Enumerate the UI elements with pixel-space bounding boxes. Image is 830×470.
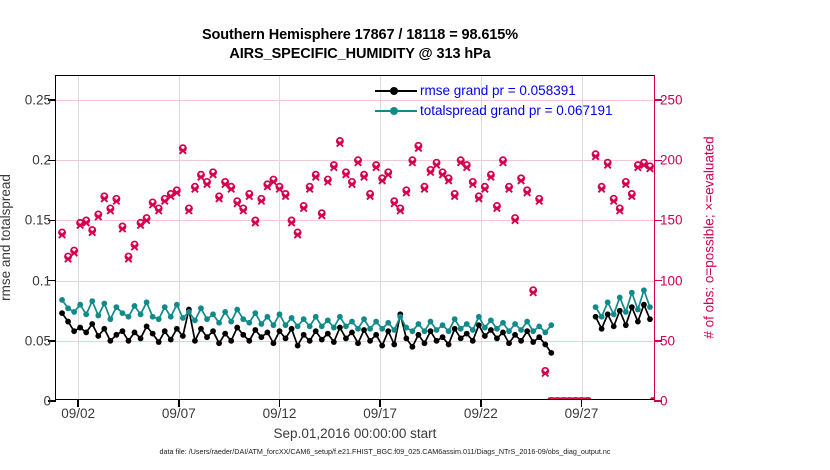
series-point — [373, 332, 379, 338]
series-point — [240, 316, 246, 322]
series-point — [168, 314, 174, 320]
series--of-obs-possible-o- — [59, 138, 654, 399]
series-point — [530, 339, 536, 345]
series-point — [271, 322, 277, 328]
series-point — [343, 323, 349, 329]
series-point — [518, 327, 524, 333]
series-point — [65, 305, 71, 311]
series-point — [95, 333, 101, 339]
series-point — [422, 328, 428, 334]
legend-label: totalspread grand pr = 0.067191 — [420, 103, 613, 118]
y-tick-label-left: 0.05 — [25, 333, 51, 348]
series-point — [446, 328, 452, 334]
series-point — [337, 325, 343, 331]
title-line-1: Southern Hemisphere 17867 / 18118 = 98.6… — [0, 26, 720, 45]
series-point — [216, 320, 222, 326]
series-point — [464, 321, 470, 327]
series-point — [168, 337, 174, 343]
series-point — [162, 328, 168, 334]
series-point — [548, 322, 554, 328]
series-point — [150, 331, 156, 337]
series-point — [150, 314, 156, 320]
series-point — [500, 320, 506, 326]
series-point — [65, 319, 71, 325]
series-point — [313, 328, 319, 334]
series-point — [120, 328, 126, 334]
series-point — [611, 311, 617, 317]
series-point — [349, 329, 355, 335]
series-point — [95, 313, 101, 319]
y-tick-label-left: 0 — [43, 394, 51, 409]
series-point — [107, 338, 113, 344]
series-point — [494, 326, 500, 332]
series-point — [355, 340, 361, 346]
series-point — [391, 342, 397, 348]
series-point — [440, 334, 446, 340]
series-point — [605, 311, 611, 317]
x-tick-label: 09/22 — [464, 406, 498, 421]
series-point — [222, 309, 228, 315]
series-point — [59, 310, 65, 316]
series-point — [629, 290, 635, 296]
series-point — [265, 314, 271, 320]
series-point — [295, 323, 301, 329]
x-axis-label: Sep.01,2016 00:00:00 start — [55, 426, 655, 441]
series-point — [343, 336, 349, 342]
series-point — [647, 304, 653, 310]
series-point — [331, 325, 337, 331]
series-point — [409, 344, 415, 350]
series-point — [409, 328, 415, 334]
series-point — [385, 328, 391, 334]
series-point — [180, 315, 186, 321]
series-point — [204, 316, 210, 322]
series-point — [331, 339, 337, 345]
series-point — [542, 329, 548, 335]
series-point — [325, 317, 331, 323]
series-point — [385, 320, 391, 326]
legend-totalspread[interactable]: totalspread grand pr = 0.067191 — [375, 102, 613, 119]
series-point — [289, 315, 295, 321]
series-point — [452, 316, 458, 322]
series-point — [476, 314, 482, 320]
series-point — [132, 303, 138, 309]
series-point — [416, 321, 422, 327]
series-point — [271, 340, 277, 346]
legend-label: rmse grand pr = 0.058391 — [420, 83, 576, 98]
series-point — [228, 319, 234, 325]
series-point — [536, 323, 542, 329]
series-point — [434, 327, 440, 333]
series-point — [629, 304, 635, 310]
series-point — [361, 327, 367, 333]
series-point — [120, 310, 126, 316]
y-tick-label-right: 200 — [660, 153, 683, 168]
series-point — [132, 329, 138, 335]
series-point — [488, 317, 494, 323]
series-point — [536, 334, 542, 340]
series-point — [446, 342, 452, 348]
series-point — [470, 327, 476, 333]
series-point — [301, 332, 307, 338]
series-point — [89, 321, 95, 327]
series-point — [458, 326, 464, 332]
series-point — [319, 323, 325, 329]
series-point — [506, 340, 512, 346]
series-point — [258, 321, 264, 327]
series-point — [114, 332, 120, 338]
series-point — [77, 302, 83, 308]
series-point — [77, 325, 83, 331]
series-point — [641, 302, 647, 308]
series-point — [246, 320, 252, 326]
series-point — [617, 295, 623, 301]
series-point — [307, 323, 313, 329]
series-point — [623, 309, 629, 315]
series-point — [204, 334, 210, 340]
series--of-obs-evaluated-x- — [59, 140, 654, 399]
legend-rmse[interactable]: rmse grand pr = 0.058391 — [375, 82, 613, 99]
series-point — [277, 311, 283, 317]
series-point — [452, 326, 458, 332]
series-point — [265, 329, 271, 335]
series-point — [500, 329, 506, 335]
y-tick-label-right: 100 — [660, 273, 683, 288]
series-point — [373, 319, 379, 325]
series-point — [458, 336, 464, 342]
series-point — [71, 309, 77, 315]
series-point — [252, 310, 258, 316]
series-point — [144, 323, 150, 329]
series-point — [464, 331, 470, 337]
x-tick-label: 09/17 — [363, 406, 397, 421]
series-point — [283, 336, 289, 342]
series-point — [379, 343, 385, 349]
series-point — [234, 307, 240, 313]
x-tick-label: 09/12 — [263, 406, 297, 421]
series-point — [524, 328, 530, 334]
series-layer — [56, 76, 654, 399]
series-point — [277, 328, 283, 334]
series-point — [258, 334, 264, 340]
series-point — [210, 311, 216, 317]
chart-root: Southern Hemisphere 17867 / 18118 = 98.6… — [0, 0, 830, 470]
series-point — [440, 322, 446, 328]
series-point — [174, 302, 180, 308]
series-point — [355, 326, 361, 332]
series-point — [403, 325, 409, 331]
series-point — [512, 321, 518, 327]
y-tick-label-left: 0.1 — [32, 273, 51, 288]
series-point — [482, 325, 488, 331]
series-point — [647, 316, 653, 322]
series-point — [403, 336, 409, 342]
legend-marker-icon — [375, 105, 417, 117]
series-point — [198, 326, 204, 332]
series-point — [83, 329, 89, 335]
series-point — [593, 304, 599, 310]
series-point — [379, 326, 385, 332]
series-point — [482, 333, 488, 339]
series-point — [512, 332, 518, 338]
series-point — [611, 323, 617, 329]
series-point — [319, 337, 325, 343]
title-line-2: AIRS_SPECIFIC_HUMIDITY @ 313 hPa — [0, 45, 720, 64]
series-point — [83, 311, 89, 317]
series-point — [216, 340, 222, 346]
series-point — [192, 338, 198, 344]
series-point — [349, 319, 355, 325]
series-point — [301, 316, 307, 322]
series-point — [416, 332, 422, 338]
series-point — [138, 311, 144, 317]
series-point — [59, 297, 65, 303]
series-point — [107, 316, 113, 322]
series-point — [174, 326, 180, 332]
y-tick-label-left: 0.25 — [25, 93, 51, 108]
series-point — [391, 327, 397, 333]
legend-marker-icon — [375, 85, 417, 97]
series-point — [422, 340, 428, 346]
series-point — [71, 328, 77, 334]
series-point — [156, 316, 162, 322]
series-point — [240, 332, 246, 338]
y-tick-label-right: 0 — [660, 394, 668, 409]
series-point — [126, 314, 132, 320]
series-point — [186, 309, 192, 315]
series-point — [524, 319, 530, 325]
series-point — [180, 333, 186, 339]
series-point — [101, 301, 107, 307]
series-point — [593, 314, 599, 320]
series-point — [283, 322, 289, 328]
series-point — [307, 338, 313, 344]
series-point — [89, 298, 95, 304]
series-point — [228, 338, 234, 344]
series-point — [542, 342, 548, 348]
y-axis-left-label-text: rmse and totalspread — [0, 174, 13, 301]
x-tick-label: 09/02 — [61, 406, 95, 421]
series-point — [530, 328, 536, 334]
y-tick-label-left: 0.15 — [25, 213, 51, 228]
series-point — [198, 305, 204, 311]
series-point — [126, 338, 132, 344]
series-point — [428, 319, 434, 325]
series-point — [518, 338, 524, 344]
series-point — [222, 331, 228, 337]
series-point — [252, 327, 258, 333]
plot-inner — [56, 76, 654, 399]
series-point — [488, 327, 494, 333]
series-point — [434, 338, 440, 344]
series-point — [506, 328, 512, 334]
series-point — [428, 328, 434, 334]
series-point — [494, 336, 500, 342]
x-tick-label: 09/07 — [162, 406, 196, 421]
y-tick-label-right: 250 — [660, 93, 683, 108]
series-point — [192, 317, 198, 323]
series-point — [470, 338, 476, 344]
y-tick-label-right: 50 — [660, 333, 675, 348]
series-point — [635, 319, 641, 325]
series-point — [361, 316, 367, 322]
series-point — [397, 314, 403, 320]
series-point — [313, 314, 319, 320]
series-point — [325, 331, 331, 337]
series-point — [367, 338, 373, 344]
series-point — [114, 304, 120, 310]
chart-legend: rmse grand pr = 0.058391totalspread gran… — [375, 82, 613, 119]
series-point — [623, 322, 629, 328]
y-axis-left-label: rmse and totalspread — [0, 75, 14, 400]
y-axis-right-label: # of obs: o=possible; ×=evaluated — [700, 75, 718, 400]
data-file-footer: data file: /Users/raeder/DAI/ATM_forcXX/… — [0, 447, 770, 456]
series-point — [599, 326, 605, 332]
series-point — [289, 326, 295, 332]
series-point — [144, 299, 150, 305]
series-point — [599, 314, 605, 320]
series-point — [605, 299, 611, 305]
y-tick-label-right: 150 — [660, 213, 683, 228]
series-point — [617, 308, 623, 314]
y-tick-label-left: 0.2 — [32, 153, 51, 168]
series-point — [234, 325, 240, 331]
series-point — [337, 314, 343, 320]
series-point — [162, 304, 168, 310]
series-point — [641, 287, 647, 293]
series-point — [210, 328, 216, 334]
y-axis-right-label-text: # of obs: o=possible; ×=evaluated — [702, 136, 717, 338]
plot-area: 00.050.10.150.20.2505010015020025009/020… — [55, 75, 655, 400]
series-point — [548, 350, 554, 356]
chart-title: Southern Hemisphere 17867 / 18118 = 98.6… — [0, 26, 720, 64]
series-point — [295, 343, 301, 349]
series-point — [156, 339, 162, 345]
series-point — [246, 338, 252, 344]
series-point — [138, 336, 144, 342]
series-point — [635, 307, 641, 313]
x-tick-label: 09/27 — [565, 406, 599, 421]
series-point — [101, 326, 107, 332]
series-point — [367, 326, 373, 332]
